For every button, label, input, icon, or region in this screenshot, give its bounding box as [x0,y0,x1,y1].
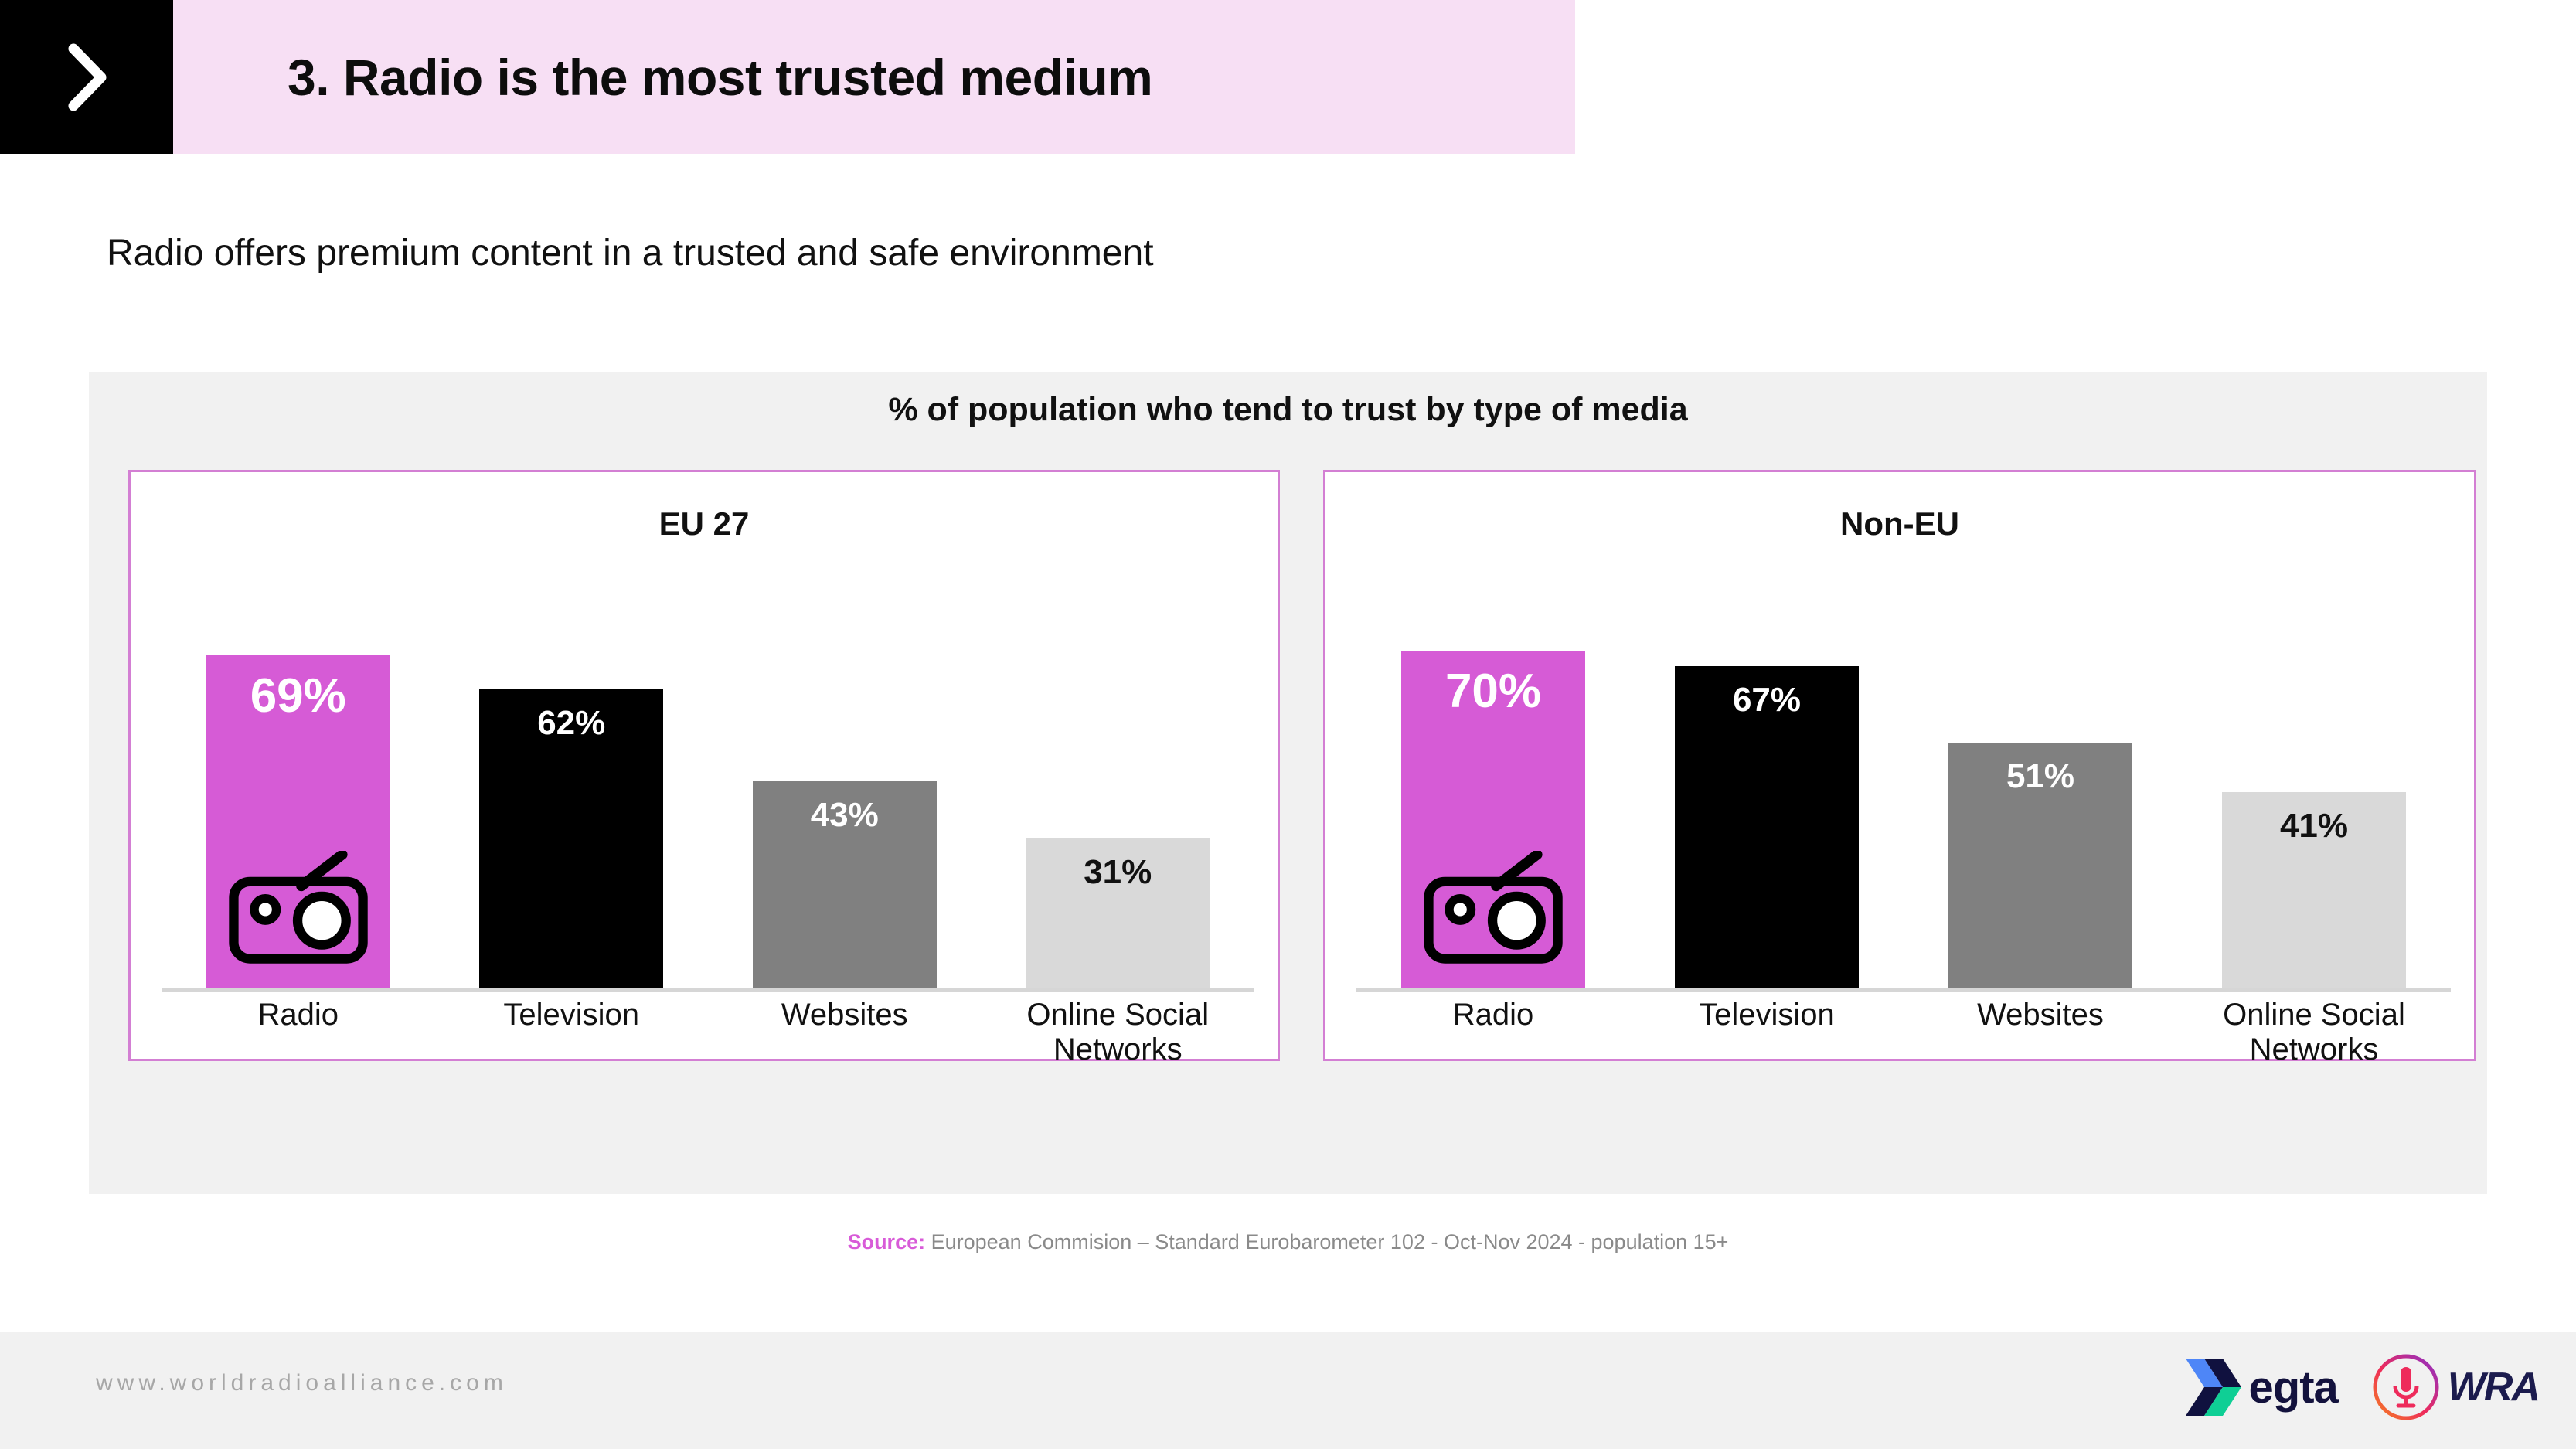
bar-television-eu27[interactable]: 62% [479,689,663,988]
panel-title-eu27: EU 27 [131,505,1278,543]
chart-title: % of population who tend to trust by typ… [89,391,2487,429]
category-label-television: Television [441,998,703,1067]
slide-footer: www.worldradioalliance.com egta [0,1332,2576,1449]
footer-logos: egta [2181,1352,2539,1423]
bars-non-eu: 70% 67% [1356,561,2451,988]
bar-slot-television: 62% [441,561,703,988]
bar-slot-radio: 69% [167,561,429,988]
header-title-band: 3. Radio is the most trusted medium [173,0,1575,154]
source-label: Source: [848,1230,926,1253]
category-label-radio: Radio [1362,998,1625,1067]
category-label-online-social-networks: Online Social Networks [2183,998,2445,1067]
wra-microphone-icon [2370,1352,2442,1423]
chevron-right-icon [60,35,114,120]
bar-radio-non-eu[interactable]: 70% [1401,651,1585,988]
x-axis-line-eu27 [162,988,1254,992]
bar-radio-eu27[interactable]: 69% [206,655,390,988]
bar-slot-online-social-networks: 41% [2183,561,2445,988]
bar-websites-non-eu[interactable]: 51% [1948,743,2132,988]
bar-value-websites-non-eu: 51% [2006,760,2074,794]
egta-logo-text: egta [2249,1362,2338,1413]
radio-icon [1420,851,1567,967]
plot-area-non-eu: 70% 67% [1356,561,2451,1025]
bar-slot-online-social-networks: 31% [987,561,1249,988]
source-note: Source: European Commision – Standard Eu… [0,1230,2576,1254]
footer-website-url[interactable]: www.worldradioalliance.com [96,1370,508,1396]
header-chevron-button[interactable] [0,0,173,154]
bar-slot-websites: 43% [713,561,975,988]
category-labels-eu27: Radio Television Websites Online Social … [162,998,1254,1067]
page-title: 3. Radio is the most trusted medium [288,48,1152,107]
radio-icon [225,851,372,967]
bar-online-social-networks-eu27[interactable]: 31% [1026,838,1210,988]
egta-mark-icon [2181,1355,2244,1419]
chart-panel-eu27: EU 27 69% [128,470,1280,1061]
bar-television-non-eu[interactable]: 67% [1675,666,1859,989]
bar-online-social-networks-non-eu[interactable]: 41% [2222,792,2406,988]
category-label-radio: Radio [167,998,429,1067]
slide-header: 3. Radio is the most trusted medium [0,0,1575,154]
bar-value-websites-eu27: 43% [811,798,879,832]
bar-value-online-social-networks-eu27: 31% [1084,855,1152,889]
bar-slot-radio: 70% [1362,561,1625,988]
wra-logo[interactable]: WRA [2370,1352,2539,1423]
category-label-websites: Websites [1909,998,2172,1067]
bar-value-television-non-eu: 67% [1733,683,1801,717]
chart-container: % of population who tend to trust by typ… [89,372,2487,1194]
category-label-online-social-networks: Online Social Networks [987,998,1249,1067]
bar-slot-television: 67% [1635,561,1898,988]
bar-value-television-eu27: 62% [537,706,605,740]
category-labels-non-eu: Radio Television Websites Online Social … [1356,998,2451,1067]
egta-logo[interactable]: egta [2181,1355,2338,1419]
bars-eu27: 69% 62% [162,561,1254,988]
plot-area-eu27: 69% 62% [162,561,1254,1025]
category-label-websites: Websites [713,998,975,1067]
chart-panel-non-eu: Non-EU 70% [1323,470,2476,1061]
x-axis-line-non-eu [1356,988,2451,992]
category-label-television: Television [1635,998,1898,1067]
wra-logo-text: WRA [2448,1364,2539,1410]
bar-value-online-social-networks-non-eu: 41% [2280,809,2348,843]
bar-value-radio-eu27: 69% [250,672,346,720]
panel-title-non-eu: Non-EU [1325,505,2474,543]
source-text: European Commision – Standard Eurobarome… [925,1230,1728,1253]
slide-subtitle: Radio offers premium content in a truste… [107,232,1154,274]
bar-websites-eu27[interactable]: 43% [753,781,937,988]
bar-slot-websites: 51% [1909,561,2172,988]
bar-value-radio-non-eu: 70% [1445,668,1541,716]
